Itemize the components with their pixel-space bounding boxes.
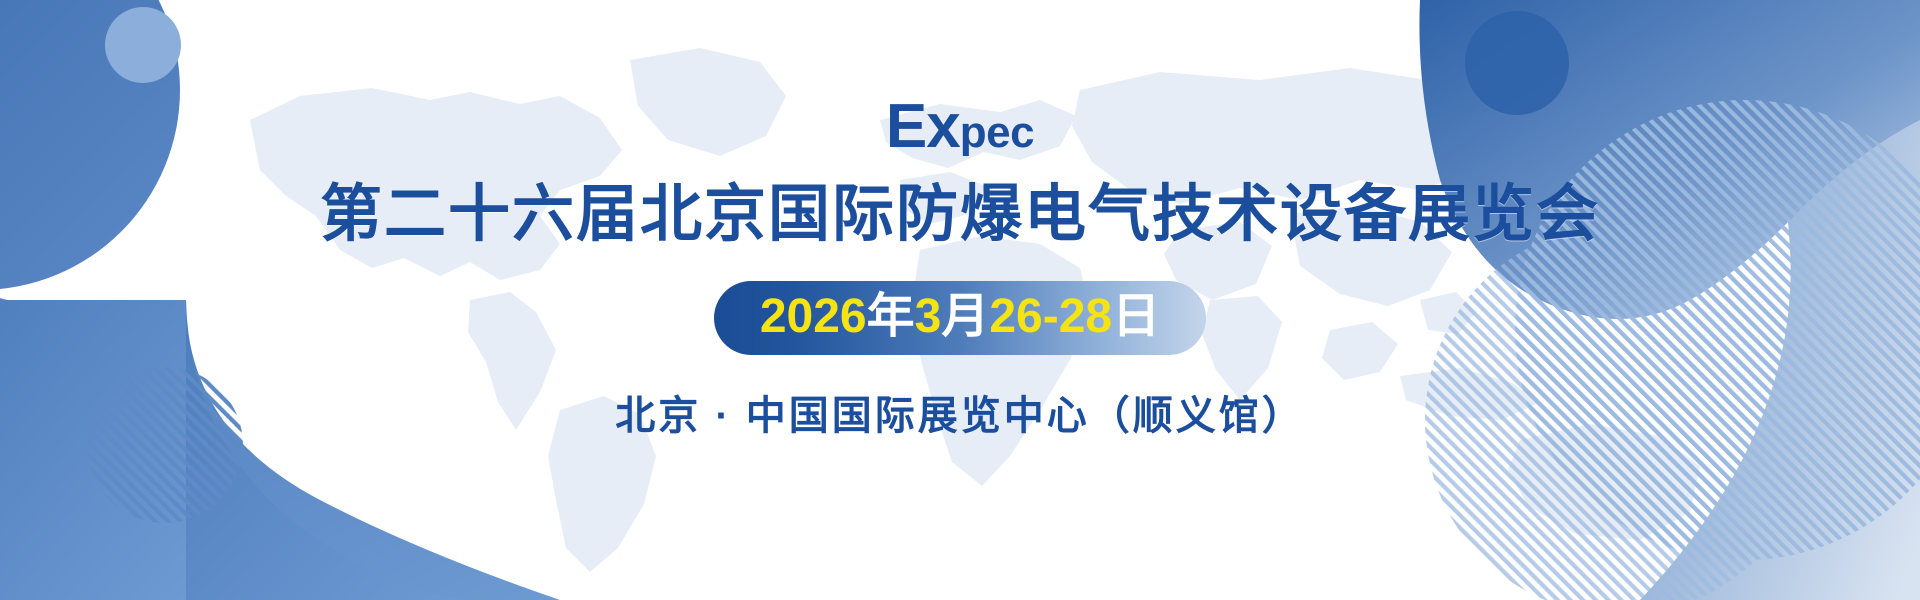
brand-logo: Expec <box>886 96 1034 158</box>
brand-logo-suffix: pec <box>960 108 1034 157</box>
event-date-pill: 2026年3月26-28日 <box>714 281 1206 355</box>
page-title: 第二十六届北京国际防爆电气技术设备展览会 <box>320 182 1600 247</box>
banner-content: Expec 第二十六届北京国际防爆电气技术设备展览会 2026年3月26-28日… <box>0 0 1920 600</box>
date-day-unit: 日 <box>1112 290 1160 343</box>
event-banner: Expec 第二十六届北京国际防爆电气技术设备展览会 2026年3月26-28日… <box>0 0 1920 600</box>
date-month-unit: 月 <box>941 290 989 343</box>
date-days: 26-28 <box>989 290 1112 343</box>
date-year: 2026 <box>760 290 867 343</box>
date-month: 3 <box>915 290 942 343</box>
brand-logo-prefix: Ex <box>886 92 960 161</box>
venue-text: 北京 · 中国国际展览中心（顺义馆） <box>615 383 1305 441</box>
date-year-unit: 年 <box>867 290 915 343</box>
